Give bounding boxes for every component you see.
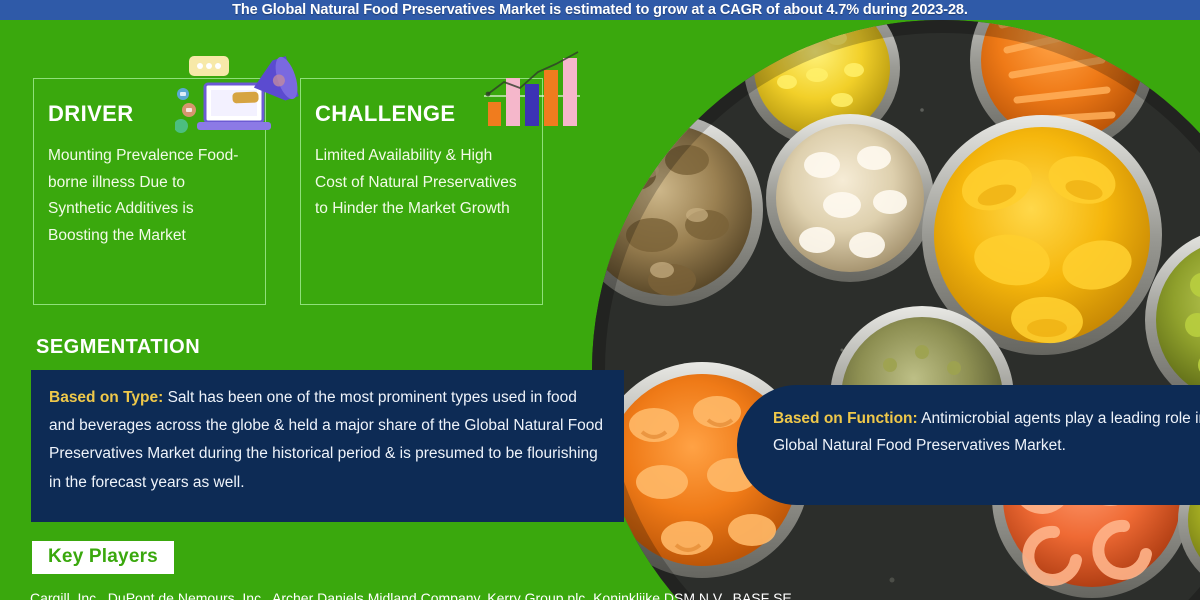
key-players-chip: Key Players [32, 541, 174, 574]
infographic-root: The Global Natural Food Preservatives Ma… [0, 0, 1200, 600]
key-players-list: Cargill, Inc., DuPont de Nemours, Inc., … [30, 589, 1190, 600]
segmentation-heading: SEGMENTATION [36, 336, 200, 359]
challenge-card-title: CHALLENGE [315, 101, 522, 127]
segmentation-by-function-label: Based on Function: [773, 410, 918, 427]
driver-card-body: Mounting Prevalence Food-borne illness D… [48, 143, 245, 250]
key-players-heading: Key Players [48, 546, 158, 567]
driver-card-title: DRIVER [48, 101, 245, 127]
segmentation-by-type-label: Based on Type: [49, 389, 163, 406]
preserved-food-jars-photo [592, 20, 1200, 600]
segmentation-by-function-text: Based on Function: Antimicrobial agents … [773, 405, 1200, 459]
segmentation-by-type-box: Based on Type: Salt has been one of the … [31, 370, 624, 522]
challenge-card: CHALLENGE Limited Availability & High Co… [300, 78, 543, 305]
challenge-card-body: Limited Availability & High Cost of Natu… [315, 143, 522, 223]
header-banner: The Global Natural Food Preservatives Ma… [0, 0, 1200, 20]
driver-card: DRIVER Mounting Prevalence Food-borne il… [33, 78, 266, 305]
header-banner-text: The Global Natural Food Preservatives Ma… [232, 2, 968, 18]
left-content-column: DRIVER Mounting Prevalence Food-borne il… [0, 20, 660, 600]
segmentation-by-function-box: Based on Function: Antimicrobial agents … [737, 385, 1200, 505]
segmentation-by-type-text: Based on Type: Salt has been one of the … [49, 384, 606, 497]
